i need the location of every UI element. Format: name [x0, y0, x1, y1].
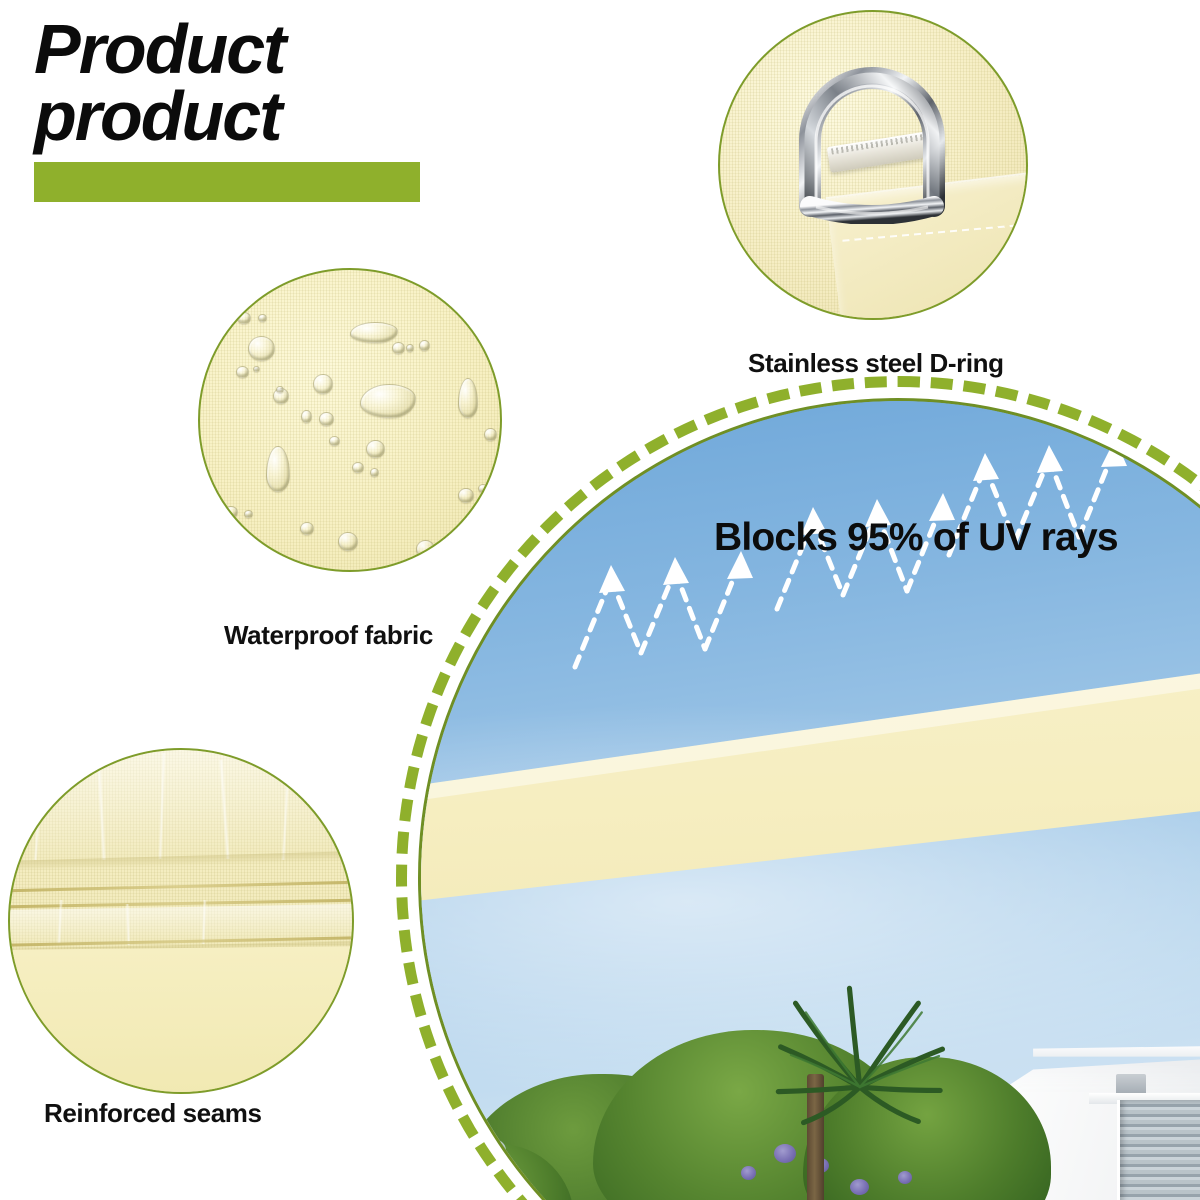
- roller-shutter-window: [1117, 1100, 1200, 1200]
- feature-circle-waterproof[interactable]: [198, 268, 502, 572]
- water-droplet: [300, 522, 314, 535]
- feature-circle-d-ring[interactable]: [718, 10, 1028, 320]
- water-droplet: [419, 340, 430, 351]
- uv-headline: Blocks 95% of UV rays: [714, 516, 1118, 560]
- water-droplet: [319, 412, 334, 426]
- water-droplet: [406, 344, 414, 352]
- water-droplet: [478, 484, 488, 493]
- seam-panel-bottom: [8, 946, 354, 1094]
- water-droplet: [458, 488, 474, 503]
- water-droplet: [237, 312, 251, 324]
- garden-scene: [421, 916, 1200, 1200]
- water-droplet: [224, 506, 238, 518]
- feature-label-seams: Reinforced seams: [44, 1098, 262, 1129]
- water-droplet: [244, 510, 253, 518]
- water-droplet: [370, 468, 379, 477]
- water-droplet: [338, 532, 358, 551]
- water-droplet: [248, 336, 275, 361]
- agapanthus-flower: [474, 1138, 506, 1162]
- feature-label-d-ring: Stainless steel D-ring: [748, 348, 1004, 379]
- water-droplet: [392, 342, 405, 354]
- page-title: Product product: [34, 16, 454, 150]
- agapanthus-flower: [741, 1166, 756, 1180]
- water-droplet: [301, 410, 312, 423]
- title-underline-accent: [34, 162, 420, 202]
- water-droplet: [313, 374, 333, 394]
- water-droplet: [440, 542, 451, 555]
- water-droplet: [350, 322, 398, 343]
- title-line-1: Product: [34, 16, 454, 83]
- seam-panel-top: [8, 748, 354, 870]
- water-droplet: [352, 462, 364, 473]
- water-droplet: [360, 384, 416, 418]
- water-droplet: [276, 386, 284, 393]
- feature-label-waterproof: Waterproof fabric: [224, 620, 433, 651]
- water-droplet: [236, 366, 249, 378]
- water-droplet: [416, 540, 435, 558]
- d-ring-icon: [776, 56, 966, 224]
- water-droplet: [476, 508, 493, 525]
- agapanthus-flower: [898, 1171, 912, 1184]
- title-line-2: product: [34, 83, 454, 150]
- water-droplet: [258, 314, 267, 322]
- infographic-page: Product product: [0, 0, 1200, 1200]
- water-droplet: [484, 428, 497, 441]
- water-droplet: [329, 436, 340, 446]
- palm-fronds: [669, 978, 1051, 1127]
- feature-circle-seams[interactable]: [8, 748, 354, 1094]
- water-droplet: [253, 366, 260, 372]
- water-droplet: [366, 440, 385, 458]
